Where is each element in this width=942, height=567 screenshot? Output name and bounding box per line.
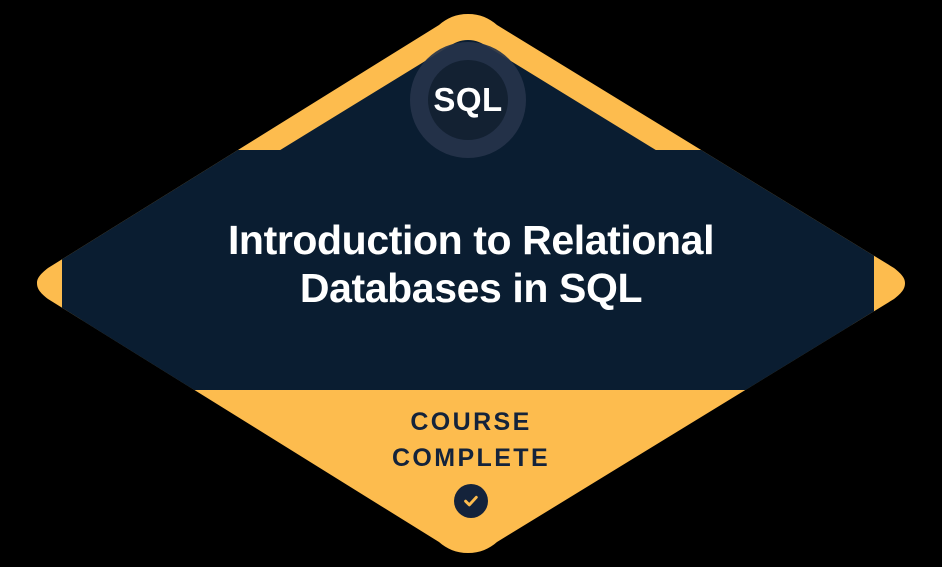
course-completion-badge: SQL Introduction to Relational Databases… <box>0 0 942 567</box>
badge-panel-body <box>62 150 874 390</box>
badge-diamond-shape <box>0 0 942 567</box>
